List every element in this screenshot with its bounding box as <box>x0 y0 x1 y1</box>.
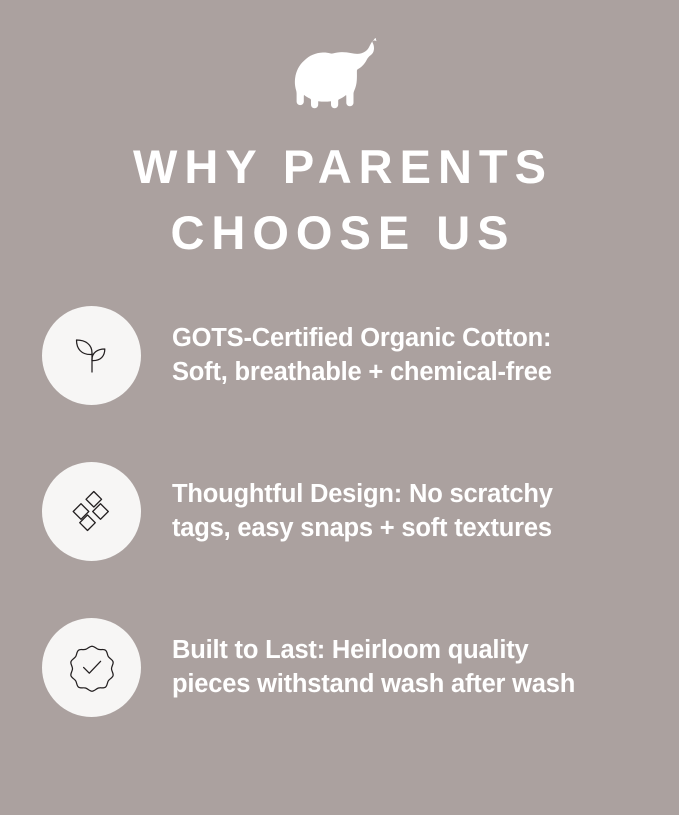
feature-item-thoughtful-design: Thoughtful Design: No scratchy tags, eas… <box>42 461 642 561</box>
sprout-leaf-icon <box>69 332 115 378</box>
four-diamonds-icon <box>69 488 115 534</box>
badge-check-icon <box>66 641 118 693</box>
brand-logo <box>0 36 679 112</box>
elephant-icon <box>290 38 390 110</box>
feature-line-1: GOTS-Certified Organic Cotton: <box>172 321 552 355</box>
feature-line-1: Thoughtful Design: No scratchy <box>172 477 553 511</box>
feature-icon-badge <box>42 462 141 561</box>
feature-list: GOTS-Certified Organic Cotton: Soft, bre… <box>42 305 642 717</box>
feature-text-built-to-last: Built to Last: Heirloom quality pieces w… <box>172 633 575 701</box>
feature-icon-badge <box>42 306 141 405</box>
feature-item-organic-cotton: GOTS-Certified Organic Cotton: Soft, bre… <box>42 305 642 405</box>
feature-line-2: Soft, breathable + chemical-free <box>172 355 552 389</box>
feature-line-1: Built to Last: Heirloom quality <box>172 633 575 667</box>
feature-text-organic-cotton: GOTS-Certified Organic Cotton: Soft, bre… <box>172 321 552 389</box>
feature-line-2: pieces withstand wash after wash <box>172 667 575 701</box>
feature-line-2: tags, easy snaps + soft textures <box>172 511 553 545</box>
feature-icon-badge <box>42 618 141 717</box>
page-title-line-2: CHOOSE US <box>0 200 679 266</box>
feature-text-thoughtful-design: Thoughtful Design: No scratchy tags, eas… <box>172 477 553 545</box>
page-title-line-1: WHY PARENTS <box>0 134 679 200</box>
feature-item-built-to-last: Built to Last: Heirloom quality pieces w… <box>42 617 642 717</box>
promo-panel: WHY PARENTS CHOOSE US GOTS-Certifie <box>0 0 679 815</box>
page-title: WHY PARENTS CHOOSE US <box>0 134 679 266</box>
